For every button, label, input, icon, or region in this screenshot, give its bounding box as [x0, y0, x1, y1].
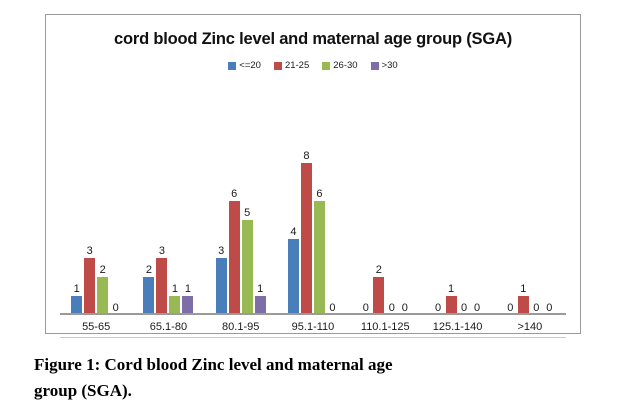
bar-slot[interactable]: 0 — [433, 133, 444, 315]
legend-swatch-icon — [228, 62, 236, 70]
bar-slot[interactable]: 2 — [373, 133, 384, 315]
bar-value-label: 1 — [185, 283, 191, 295]
legend-label: 21-25 — [285, 61, 309, 71]
category-label-4: 110.1-125 — [349, 317, 421, 337]
bar-slot[interactable]: 1 — [446, 133, 457, 315]
bar-slot[interactable]: 0 — [531, 133, 542, 315]
bar-slot[interactable]: 1 — [182, 133, 193, 315]
category-label-1: 65.1-80 — [132, 317, 204, 337]
legend-item-1[interactable]: 21-25 — [274, 61, 309, 71]
bar-value-label: 1 — [520, 283, 526, 295]
bar[interactable] — [97, 277, 108, 315]
bar-group-0: 1320 — [60, 133, 132, 315]
legend-swatch-icon — [322, 62, 330, 70]
bar-slot[interactable]: 1 — [169, 133, 180, 315]
bar-slot[interactable]: 1 — [71, 133, 82, 315]
bar-value-label: 2 — [146, 264, 152, 276]
legend-label: 26-30 — [333, 61, 357, 71]
bar-slot[interactable]: 4 — [288, 133, 299, 315]
bar[interactable] — [288, 239, 299, 315]
legend-swatch-icon — [274, 62, 282, 70]
legend-swatch-icon — [371, 62, 379, 70]
bar-value-label: 1 — [74, 283, 80, 295]
bar-slot[interactable]: 6 — [314, 133, 325, 315]
legend-item-3[interactable]: >30 — [371, 61, 398, 71]
chart-title: cord blood Zinc level and maternal age g… — [46, 15, 580, 50]
bar[interactable] — [314, 201, 325, 315]
bar-value-label: 6 — [316, 188, 322, 200]
bar-slot[interactable]: 2 — [143, 133, 154, 315]
category-label-3: 95.1-110 — [277, 317, 349, 337]
bar-slot[interactable]: 0 — [327, 133, 338, 315]
bar-slot[interactable]: 0 — [544, 133, 555, 315]
bar-value-label: 1 — [448, 283, 454, 295]
chart-title-line-2: group (SGA) — [416, 30, 512, 48]
bar-slot[interactable]: 0 — [386, 133, 397, 315]
bar-value-label: 2 — [376, 264, 382, 276]
bar-group-5: 0100 — [421, 133, 493, 315]
bar-slot[interactable]: 0 — [110, 133, 121, 315]
legend-item-2[interactable]: 26-30 — [322, 61, 357, 71]
figure-caption: Figure 1: Cord blood Zinc level and mate… — [34, 352, 590, 404]
bar[interactable] — [373, 277, 384, 315]
figure-caption-line-1: Figure 1: Cord blood Zinc level and mate… — [34, 355, 393, 374]
chart-title-line-1: cord blood Zinc level and maternal age — [114, 30, 412, 48]
bar-slot[interactable]: 0 — [459, 133, 470, 315]
figure-chart-frame: cord blood Zinc level and maternal age g… — [45, 14, 581, 334]
plot-area: 1320231136514860020001000100 — [60, 133, 566, 315]
bar-slot[interactable]: 1 — [518, 133, 529, 315]
bar-value-label: 3 — [87, 245, 93, 257]
bar-slot[interactable]: 0 — [472, 133, 483, 315]
bar-slot[interactable]: 0 — [399, 133, 410, 315]
bar-slot[interactable]: 0 — [505, 133, 516, 315]
bar[interactable] — [156, 258, 167, 315]
figure-caption-line-2: group (SGA). — [34, 378, 590, 404]
bar[interactable] — [143, 277, 154, 315]
bar-slot[interactable]: 2 — [97, 133, 108, 315]
bar-value-label: 4 — [290, 226, 296, 238]
category-label-0: 55-65 — [60, 317, 132, 337]
legend-label: >30 — [382, 61, 398, 71]
bar-value-label: 3 — [218, 245, 224, 257]
category-axis: 55-6565.1-8080.1-9595.1-110110.1-125125.… — [60, 317, 566, 338]
bar[interactable] — [301, 163, 312, 315]
bar-value-label: 1 — [172, 283, 178, 295]
bar-slot[interactable]: 1 — [255, 133, 266, 315]
bar-group-3: 4860 — [277, 133, 349, 315]
bar-slot[interactable]: 6 — [229, 133, 240, 315]
bar-group-2: 3651 — [205, 133, 277, 315]
bar[interactable] — [84, 258, 95, 315]
bar-slot[interactable]: 0 — [360, 133, 371, 315]
bar-slot[interactable]: 3 — [216, 133, 227, 315]
bar-value-label: 2 — [100, 264, 106, 276]
chart-legend: <=2021-2526-30>30 — [46, 61, 580, 71]
bar-slot[interactable]: 3 — [156, 133, 167, 315]
x-axis-line — [60, 313, 566, 315]
category-label-2: 80.1-95 — [205, 317, 277, 337]
bar[interactable] — [242, 220, 253, 315]
bar-slot[interactable]: 8 — [301, 133, 312, 315]
bar-slot[interactable]: 3 — [84, 133, 95, 315]
bar[interactable] — [229, 201, 240, 315]
bar-group-4: 0200 — [349, 133, 421, 315]
bar-slot[interactable]: 5 — [242, 133, 253, 315]
bar-group-1: 2311 — [132, 133, 204, 315]
bar-group-6: 0100 — [494, 133, 566, 315]
bar-value-label: 1 — [257, 283, 263, 295]
legend-item-0[interactable]: <=20 — [228, 61, 261, 71]
bar-groups: 1320231136514860020001000100 — [60, 133, 566, 315]
category-label-5: 125.1-140 — [421, 317, 493, 337]
bar-value-label: 6 — [231, 188, 237, 200]
bar-value-label: 8 — [303, 150, 309, 162]
bar-value-label: 3 — [159, 245, 165, 257]
legend-label: <=20 — [239, 61, 261, 71]
bar-value-label: 5 — [244, 207, 250, 219]
bar[interactable] — [216, 258, 227, 315]
category-label-6: >140 — [494, 317, 566, 337]
